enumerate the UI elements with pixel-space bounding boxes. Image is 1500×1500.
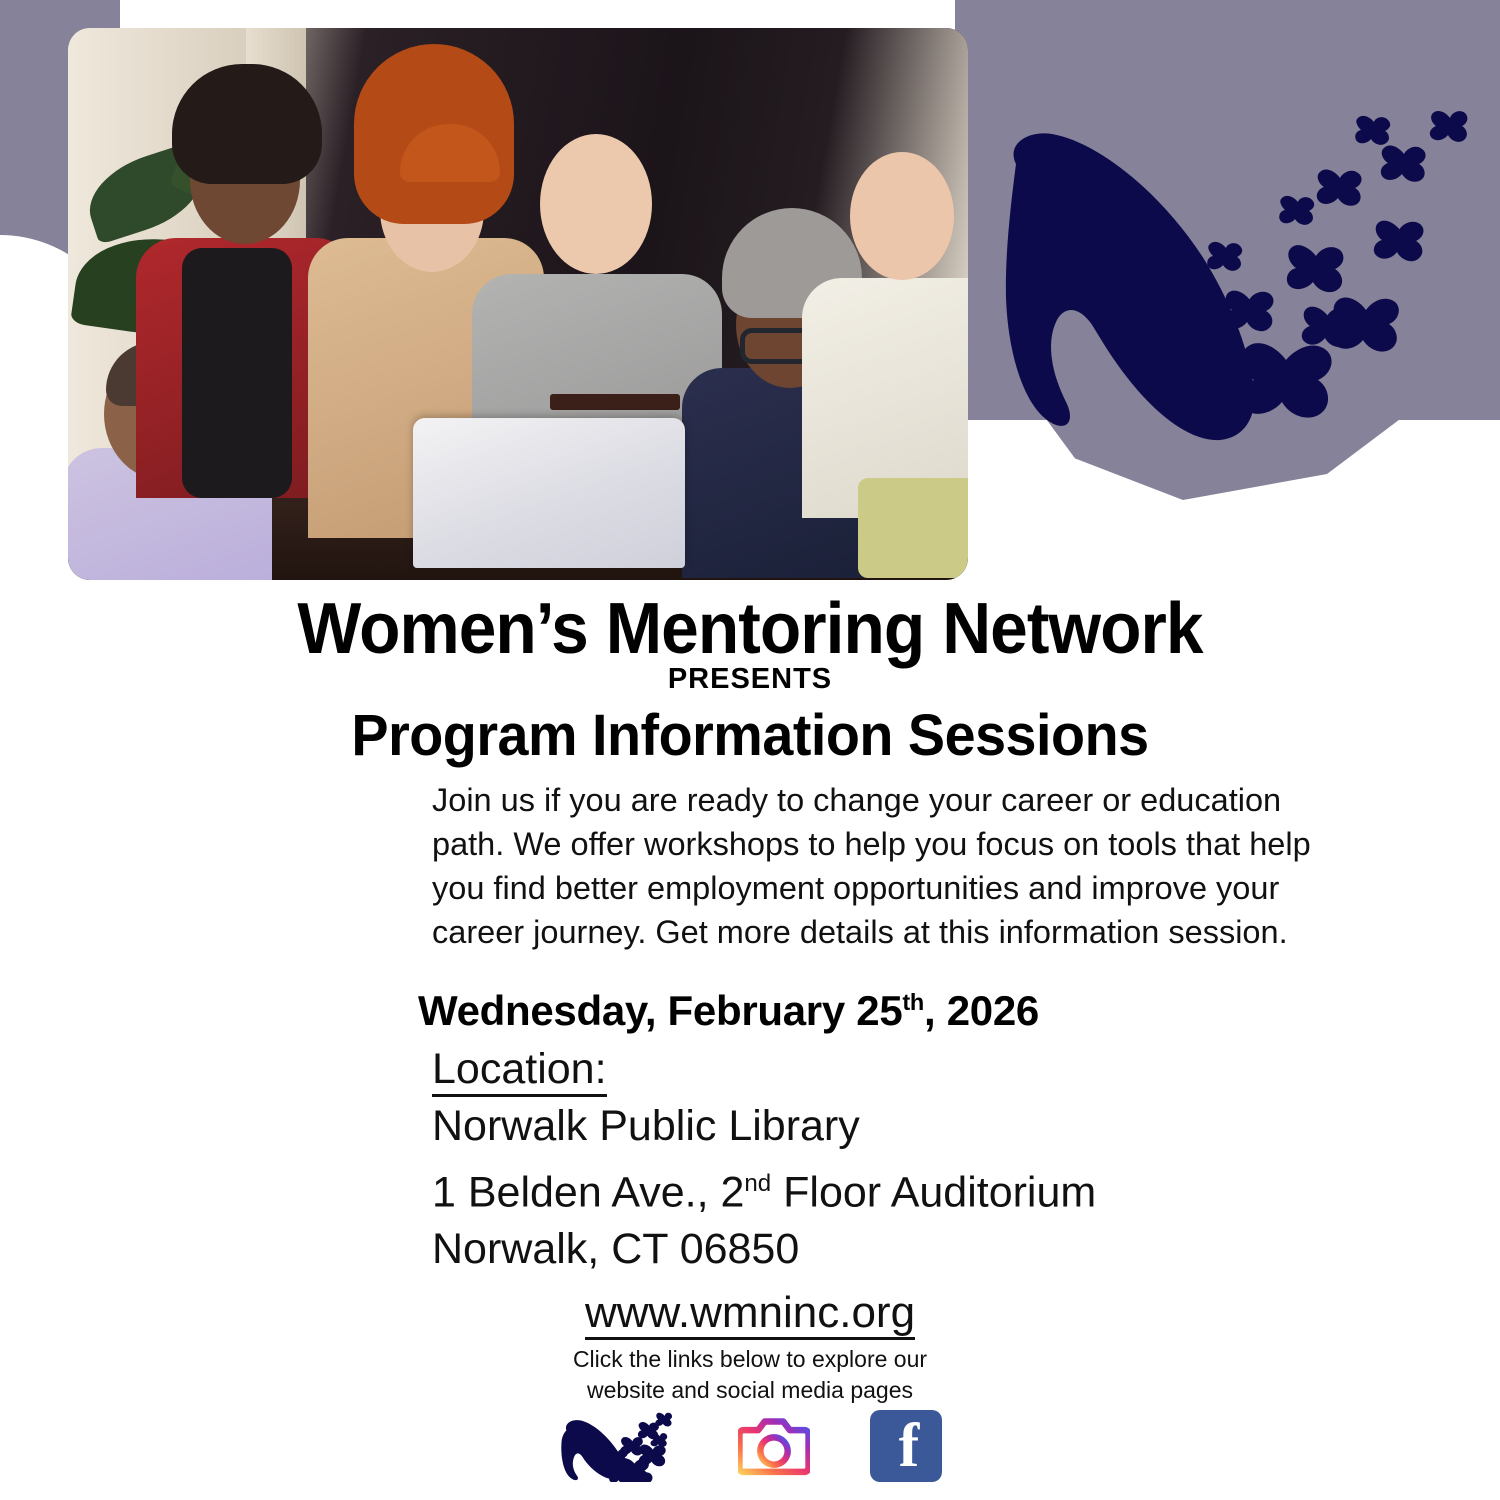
location-address: 1 Belden Ave., 2nd Floor Auditorium bbox=[432, 1155, 1432, 1221]
photo-person-6 bbox=[808, 68, 968, 568]
location-address-ordinal: nd bbox=[744, 1170, 771, 1197]
location-label-text: Location: bbox=[432, 1045, 607, 1097]
event-date: Wednesday, February 25th, 2026 bbox=[418, 987, 1418, 1035]
location-details: Norwalk Public Library 1 Belden Ave., 2n… bbox=[432, 1098, 1432, 1278]
hero-photo bbox=[68, 28, 968, 580]
location-address-suffix: Floor Auditorium bbox=[771, 1168, 1096, 1216]
event-date-suffix: , 2026 bbox=[924, 987, 1039, 1034]
social-links-row bbox=[0, 1410, 1500, 1482]
social-cta-line2: website and social media pages bbox=[0, 1375, 1500, 1406]
instagram-link[interactable] bbox=[738, 1410, 810, 1482]
location-address-prefix: 1 Belden Ave., 2 bbox=[432, 1168, 744, 1216]
presents-label: PRESENTS bbox=[0, 663, 1500, 696]
butterfly-icon bbox=[558, 1410, 678, 1482]
facebook-link[interactable] bbox=[870, 1410, 942, 1482]
event-description: Join us if you are ready to change your … bbox=[432, 778, 1338, 954]
butterfly-logo-link[interactable] bbox=[558, 1410, 678, 1482]
location-label: Location: bbox=[432, 1045, 607, 1094]
social-cta: Click the links below to explore our web… bbox=[0, 1344, 1500, 1406]
facebook-icon bbox=[870, 1410, 942, 1482]
website-link-text: www.wmninc.org bbox=[585, 1288, 915, 1340]
event-date-prefix: Wednesday, February 25 bbox=[418, 987, 902, 1034]
event-title: Program Information Sessions bbox=[30, 702, 1470, 769]
butterfly-wing-graphic bbox=[980, 60, 1500, 490]
location-venue: Norwalk Public Library bbox=[432, 1098, 1432, 1155]
photo-laptop bbox=[413, 418, 685, 568]
website-link[interactable]: www.wmninc.org bbox=[0, 1288, 1500, 1338]
social-cta-line1: Click the links below to explore our bbox=[0, 1344, 1500, 1375]
location-city-state-zip: Norwalk, CT 06850 bbox=[432, 1221, 1432, 1278]
poster-canvas: Women’s Mentoring Network PRESENTS Progr… bbox=[0, 0, 1500, 1500]
page-title: Women’s Mentoring Network bbox=[45, 588, 1455, 670]
event-date-ordinal: th bbox=[902, 989, 924, 1015]
instagram-camera-icon bbox=[738, 1410, 810, 1482]
